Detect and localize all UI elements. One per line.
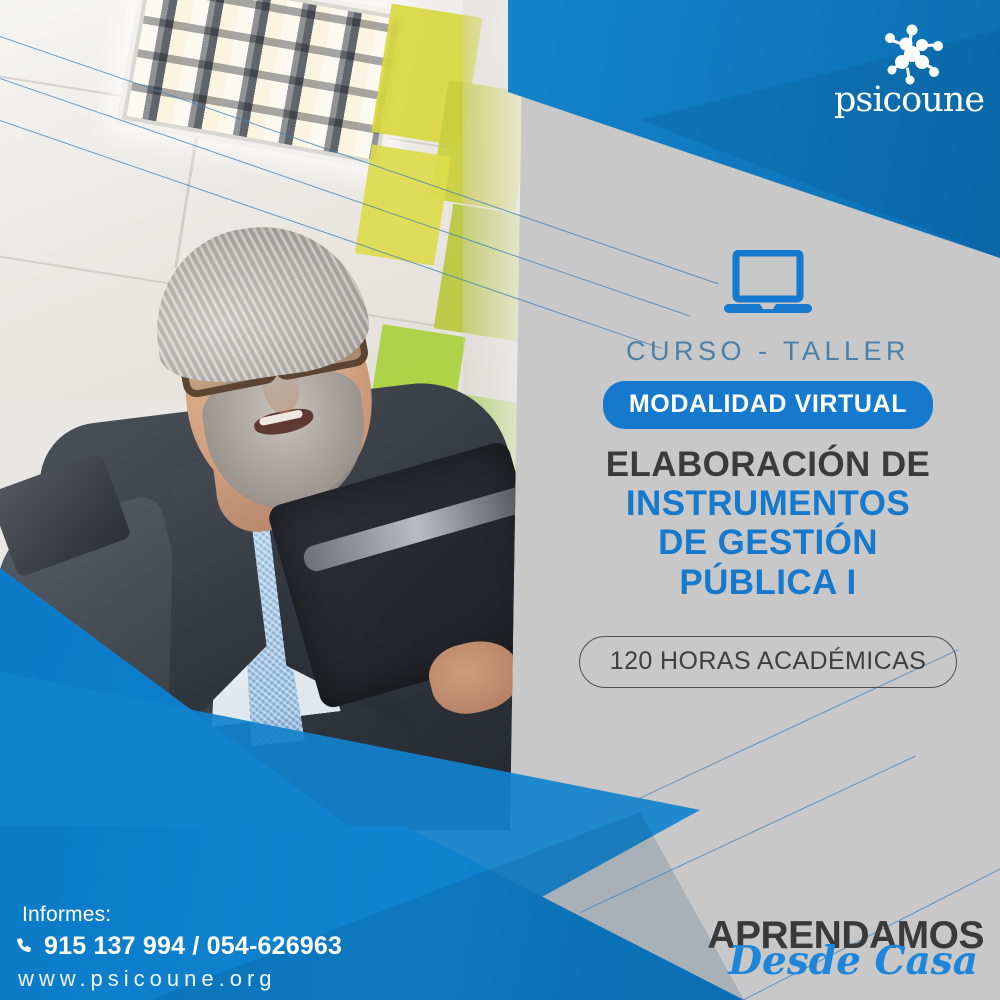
campaign-slogan: APRENDAMOS Desde Casa <box>716 916 984 992</box>
course-eyebrow: CURSO - TALLER <box>548 336 988 367</box>
informes-label: Informes: <box>22 903 111 927</box>
slogan-line2: Desde Casa <box>728 942 978 981</box>
course-info-block: CURSO - TALLER MODALIDAD VIRTUAL ELABORA… <box>548 250 988 688</box>
phone-number: 915 137 994 / 054-626963 <box>44 932 342 961</box>
brand-wordmark: psicoune <box>834 80 984 120</box>
course-title-line3: DE GESTIÓN <box>548 523 988 562</box>
hours-badge: 120 HORAS ACADÉMICAS <box>579 636 957 688</box>
brand-logo[interactable]: psicoune <box>834 24 984 124</box>
phone-icon <box>14 936 35 957</box>
course-title-line2: INSTRUMENTOS <box>548 484 988 523</box>
laptop-icon <box>720 250 816 318</box>
modality-badge: MODALIDAD VIRTUAL <box>603 381 933 429</box>
course-title-line1: ELABORACIÓN DE <box>548 445 988 484</box>
molecule-network-icon <box>876 24 948 86</box>
website-url[interactable]: www.psicoune.org <box>18 966 277 992</box>
promotional-poster: psicoune CURSO - TALLER MODALIDAD VIRTUA… <box>0 0 1000 1000</box>
course-title-line4: PÚBLICA I <box>548 563 988 602</box>
phone-contact[interactable]: 915 137 994 / 054-626963 <box>14 932 342 961</box>
